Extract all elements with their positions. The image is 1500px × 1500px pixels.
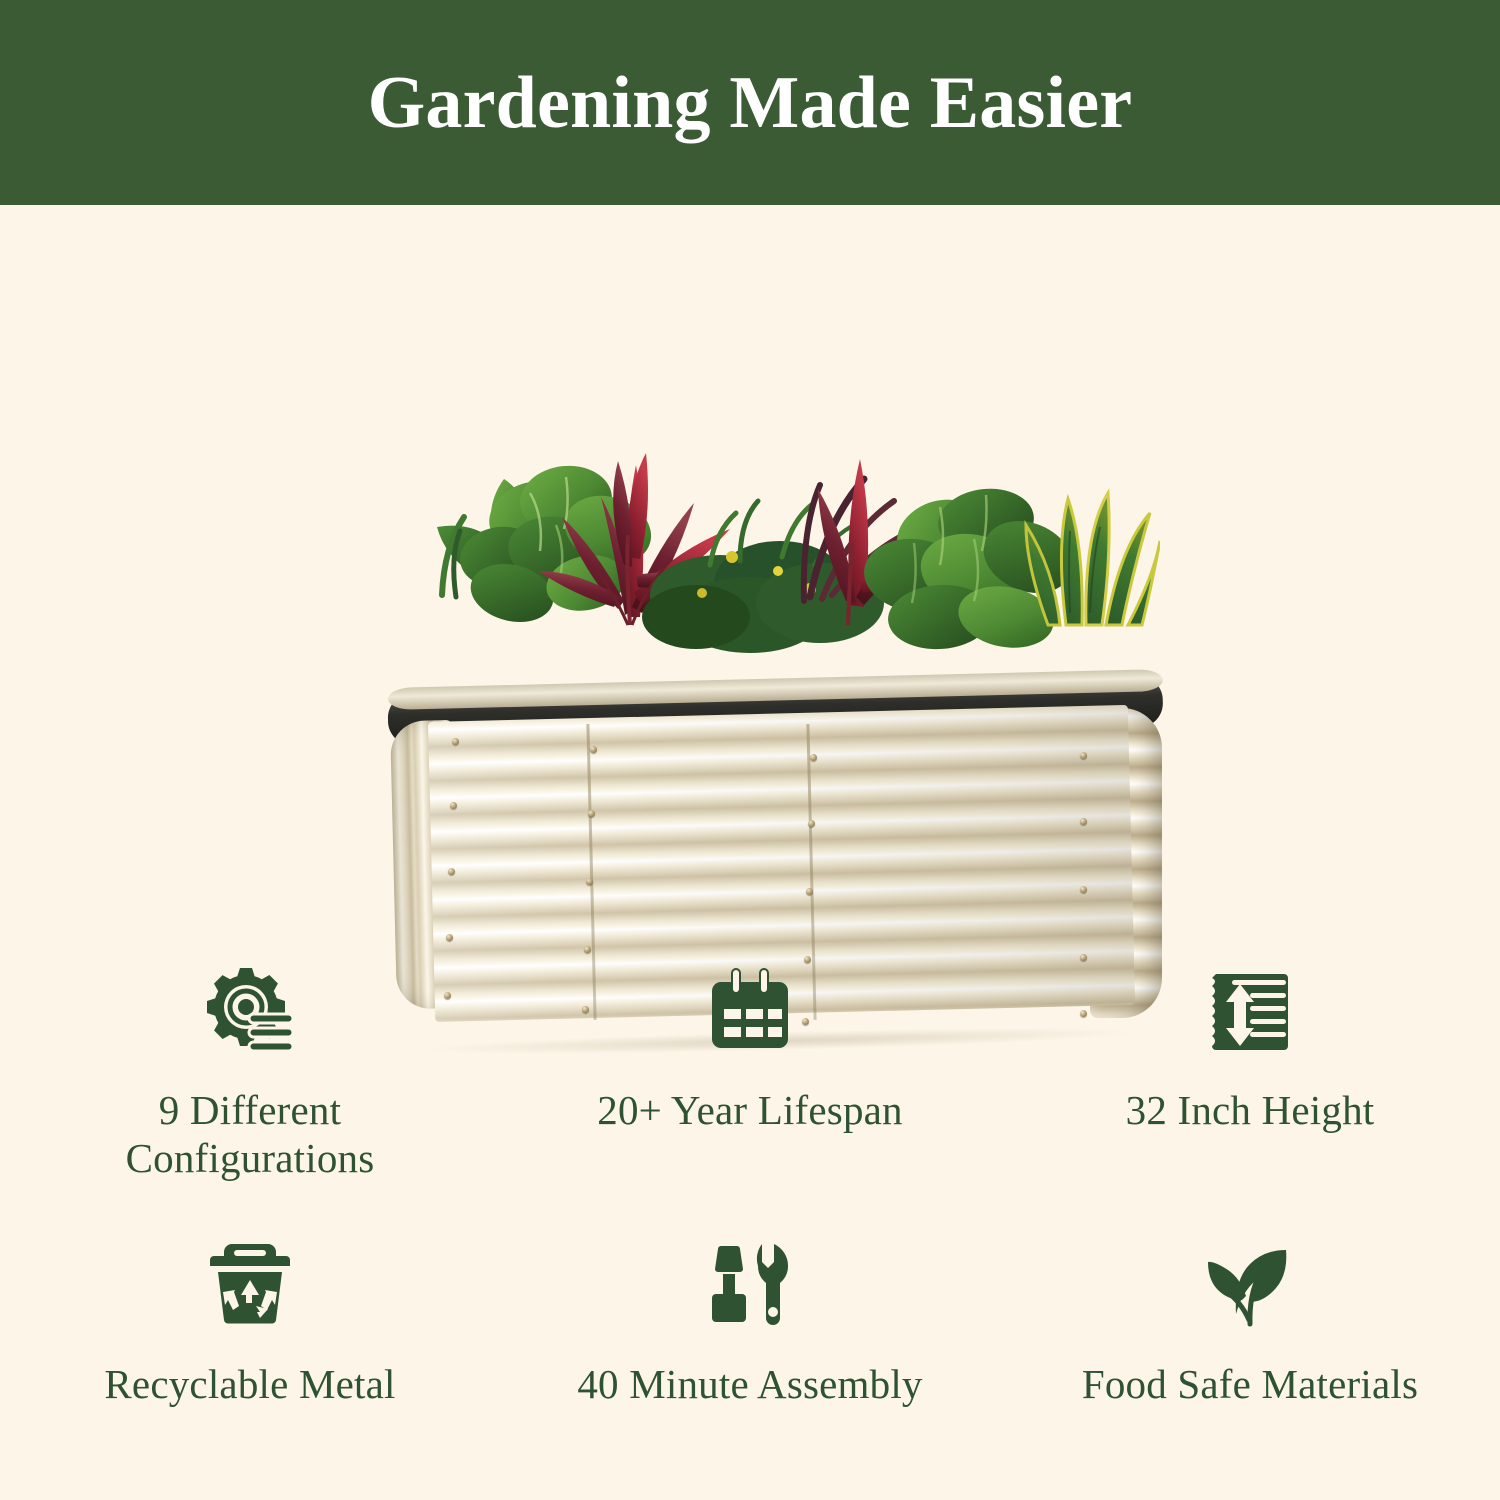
feature-label: 32 Inch Height [1126, 1086, 1375, 1134]
feature-label: 9 Different Configurations [126, 1086, 375, 1183]
calendar-icon [698, 960, 802, 1064]
feature-recyclable-metal: Recyclable Metal [30, 1230, 470, 1408]
tools-icon [698, 1230, 802, 1334]
screw [588, 810, 595, 817]
screw [448, 868, 455, 875]
screw [446, 934, 453, 941]
screw [590, 746, 597, 753]
feature-20-year-lifespan: 20+ Year Lifespan [530, 960, 970, 1134]
screw [452, 738, 459, 745]
screw [1080, 818, 1087, 825]
feature-label-line2: Configurations [126, 1135, 375, 1181]
feature-label: Food Safe Materials [1082, 1360, 1418, 1408]
feature-32-inch-height: 32 Inch Height [1030, 960, 1470, 1134]
features-grid: 9 Different Configurations 20+ Year Life… [0, 960, 1500, 1500]
feature-label: 20+ Year Lifespan [597, 1086, 903, 1134]
height-ruler-icon [1198, 960, 1302, 1064]
feature-label-line1: 9 Different [159, 1087, 341, 1133]
gear-configurations-icon [198, 960, 302, 1064]
feature-food-safe-materials: Food Safe Materials [1030, 1230, 1470, 1408]
feature-40-minute-assembly: 40 Minute Assembly [530, 1230, 970, 1408]
fiddle-leaf-fig [861, 484, 1084, 655]
page-title: Gardening Made Easier [368, 66, 1133, 140]
recycle-bin-icon [198, 1230, 302, 1334]
leaf-icon [1198, 1230, 1302, 1334]
screw [584, 946, 591, 953]
screw [450, 802, 457, 809]
screw [806, 888, 813, 895]
feature-9-different-configurations: 9 Different Configurations [30, 960, 470, 1183]
screw [1080, 886, 1087, 893]
screw [808, 820, 815, 827]
raised-garden-bed-product [380, 325, 1160, 1025]
screw [1080, 752, 1087, 759]
product-hero-image [0, 205, 1500, 965]
screw [586, 878, 593, 885]
feature-label: Recyclable Metal [104, 1360, 395, 1408]
page-header-banner: Gardening Made Easier [0, 0, 1500, 205]
feature-label: 40 Minute Assembly [577, 1360, 922, 1408]
screw [810, 754, 817, 761]
